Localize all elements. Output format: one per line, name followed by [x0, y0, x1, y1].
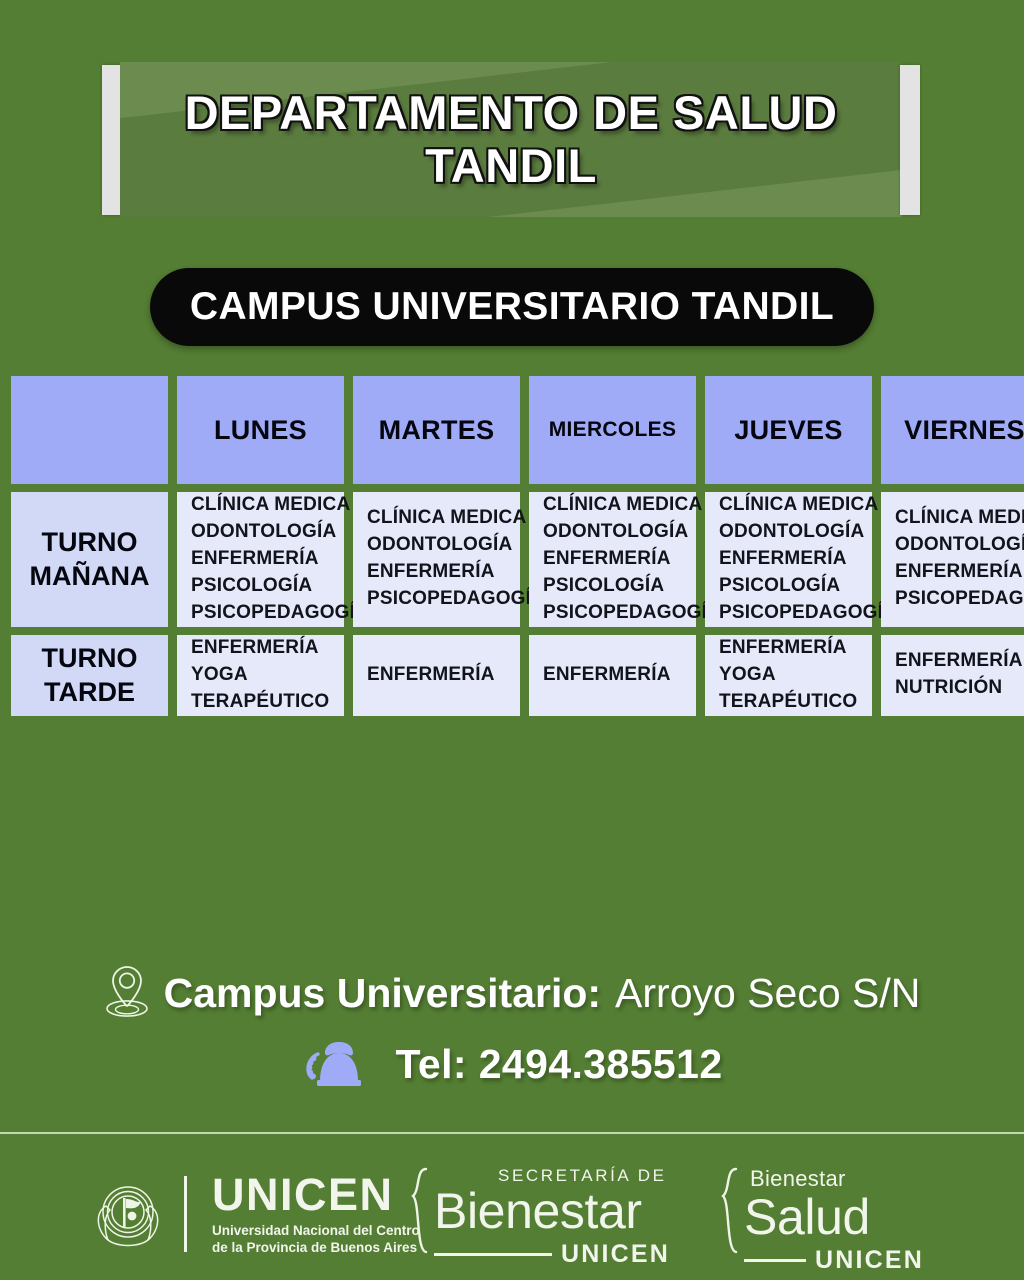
unicen-wordmark: UNICEN Universidad Nacional del Centro d…	[212, 1172, 420, 1257]
cell-tarde-lunes: ENFERMERÍA YOGA TERAPÉUTICO	[177, 635, 344, 716]
banner-bar-left	[102, 65, 122, 215]
column-header-lunes: LUNES	[177, 376, 344, 484]
cell-tarde-martes: ENFERMERÍA	[353, 635, 520, 716]
footer-logos: UNICEN Universidad Nacional del Centro d…	[0, 1152, 1024, 1280]
bracket-icon	[714, 1166, 740, 1258]
map-pin-icon	[104, 964, 150, 1022]
row-label-turno-manana: TURNO MAÑANA	[11, 492, 168, 627]
address-line: Campus Universitario: Arroyo Seco S/N	[0, 962, 1024, 1024]
row-label-turno-tarde: TURNO TARDE	[11, 635, 168, 716]
campus-subtitle-pill: CAMPUS UNIVERSITARIO TANDIL	[150, 268, 874, 346]
bienestar-unicen: UNICEN	[561, 1240, 670, 1269]
contact-block: Campus Universitario: Arroyo Seco S/N Te…	[0, 962, 1024, 1094]
salud-foot: UNICEN	[744, 1246, 924, 1275]
banner-bar-right	[900, 65, 920, 215]
cell-tarde-viernes: ENFERMERÍA NUTRICIÓN	[881, 635, 1024, 716]
bienestar-rule	[434, 1253, 552, 1256]
logo-bienestar-unicen: SECRETARÍA DE Bienestar UNICEN	[404, 1166, 670, 1269]
column-header-jueves: JUEVES	[705, 376, 872, 484]
phone-number: Tel: 2494.385512	[395, 1041, 722, 1088]
salud-text: Bienestar Salud UNICEN	[744, 1166, 924, 1275]
address-value: Arroyo Seco S/N	[615, 970, 920, 1017]
column-header-viernes: VIERNES	[881, 376, 1024, 484]
phone-line: Tel: 2494.385512	[0, 1034, 1024, 1094]
column-header-miercoles: MIERCOLES	[529, 376, 696, 484]
salud-main: Salud	[744, 1193, 924, 1242]
salud-brand: Bienestar Salud UNICEN	[714, 1166, 924, 1275]
campus-subtitle-text: CAMPUS UNIVERSITARIO TANDIL	[190, 285, 834, 329]
bienestar-main: Bienestar	[434, 1187, 670, 1236]
bienestar-brand: SECRETARÍA DE Bienestar UNICEN	[404, 1166, 670, 1269]
unicen-name: UNICEN	[212, 1172, 420, 1217]
page-title-line-1: DEPARTAMENTO DE SALUD	[185, 87, 838, 140]
cell-manana-jueves: CLÍNICA MEDICA ODONTOLOGÍA ENFERMERÍA PS…	[705, 492, 872, 627]
footer-divider	[0, 1132, 1024, 1134]
unicen-subtitle: Universidad Nacional del Centro de la Pr…	[212, 1222, 420, 1257]
page-title-line-2: TANDIL	[425, 140, 597, 193]
unicen-crest-icon	[86, 1172, 170, 1256]
address-label: Campus Universitario:	[164, 970, 601, 1017]
header-banner: DEPARTAMENTO DE SALUD TANDIL	[0, 62, 1024, 217]
cell-tarde-jueves: ENFERMERÍA YOGA TERAPÉUTICO	[705, 635, 872, 716]
logo-bienestar-salud: Bienestar Salud UNICEN	[714, 1166, 924, 1275]
salud-rule	[744, 1259, 806, 1262]
cell-manana-miercoles: CLÍNICA MEDICA ODONTOLOGÍA ENFERMERÍA PS…	[529, 492, 696, 627]
cell-tarde-miercoles: ENFERMERÍA	[529, 635, 696, 716]
page-title: DEPARTAMENTO DE SALUD TANDIL	[120, 62, 902, 217]
table-corner-cell	[11, 376, 168, 484]
schedule-table: LUNES MARTES MIERCOLES JUEVES VIERNES TU…	[11, 376, 1013, 716]
telephone-icon	[301, 1036, 377, 1092]
bienestar-foot: UNICEN	[434, 1240, 670, 1269]
cell-manana-martes: CLÍNICA MEDICA ODONTOLOGÍA ENFERMERÍA PS…	[353, 492, 520, 627]
cell-manana-viernes: CLÍNICA MEDICA ODONTOLOGÍA ENFERMERÍA PS…	[881, 492, 1024, 627]
logo-unicen: UNICEN Universidad Nacional del Centro d…	[86, 1172, 420, 1257]
bienestar-text: SECRETARÍA DE Bienestar UNICEN	[434, 1166, 670, 1269]
unicen-logo-divider	[184, 1176, 187, 1252]
salud-unicen: UNICEN	[815, 1246, 924, 1275]
bracket-icon	[404, 1166, 430, 1258]
column-header-martes: MARTES	[353, 376, 520, 484]
cell-manana-lunes: CLÍNICA MEDICA ODONTOLOGÍA ENFERMERÍA PS…	[177, 492, 344, 627]
